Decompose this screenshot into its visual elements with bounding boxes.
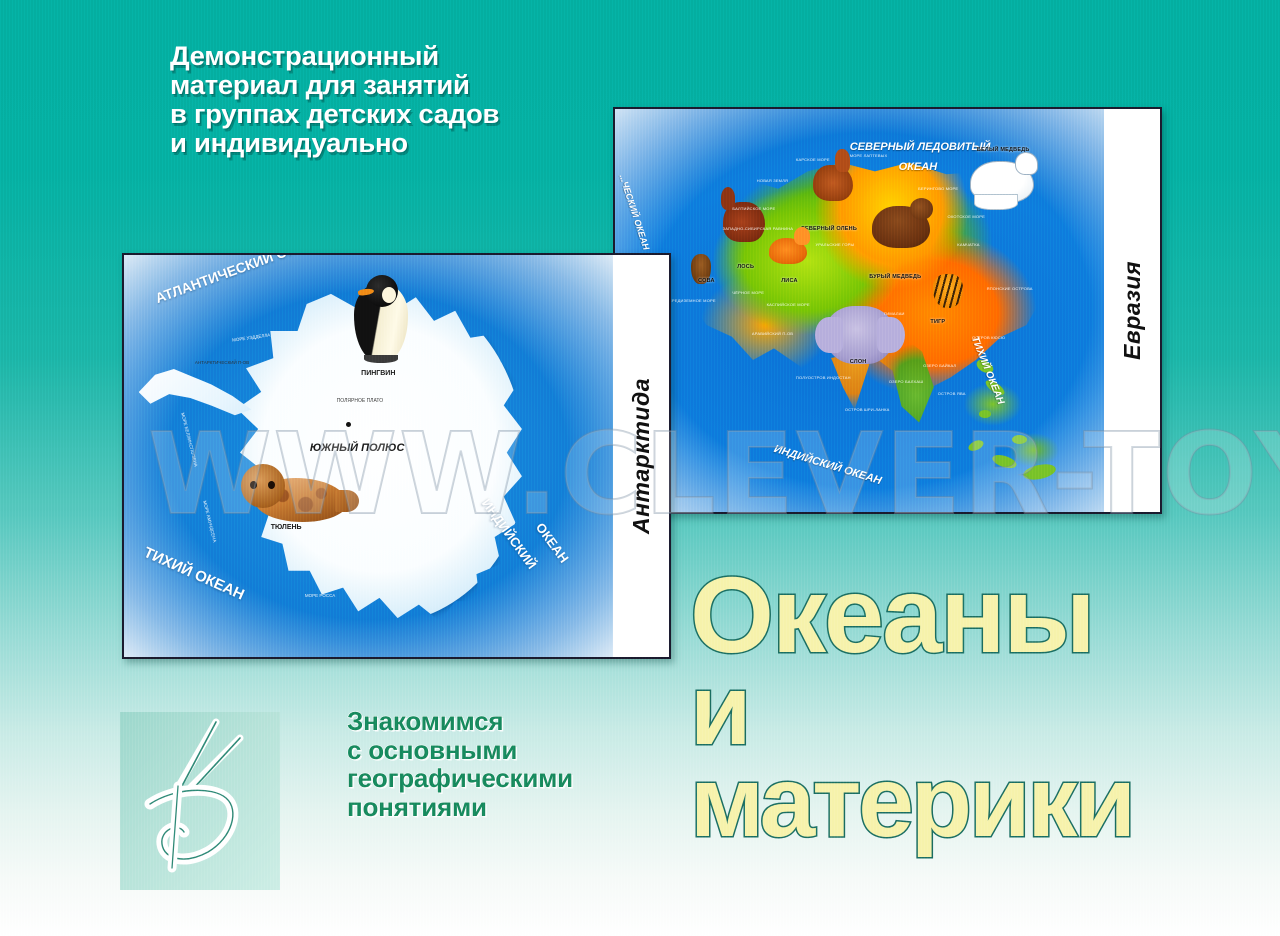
island-shape bbox=[967, 438, 986, 453]
island-shape bbox=[1012, 435, 1027, 444]
map-feature-label: ОЗЕРО БАЙКАЛ bbox=[923, 363, 956, 368]
card-eurasia-title: Евразия bbox=[1119, 261, 1146, 360]
animal-label-seal: ТЮЛЕНЬ bbox=[271, 524, 302, 531]
antarctica-map: АТЛАНТИЧЕСКИЙ ОКЕАН ТИХИЙ ОКЕАН ИНДИЙСКИ… bbox=[124, 255, 613, 657]
publisher-logo bbox=[120, 712, 280, 890]
seal-tail bbox=[335, 490, 359, 512]
header-line-4: и индивидуально bbox=[170, 129, 598, 158]
animal-tiger bbox=[933, 274, 963, 308]
card-antarctica-title: Антарктида bbox=[628, 378, 655, 534]
seal-eye-right bbox=[268, 481, 275, 489]
card-antarctica-side-tab: Антарктида bbox=[613, 255, 669, 657]
logo-glyph-b-icon bbox=[120, 712, 280, 890]
map-feature-label: ЗАПАДНО-СИБИРСКАЯ РАВНИНА bbox=[723, 226, 794, 231]
card-eurasia[interactable]: СЕВЕРНЫЙ ЛЕДОВИТЫЙ ОКЕАН ...ЧЕСКИЙ ОКЕАН… bbox=[613, 107, 1162, 514]
header-line-2: материал для занятий bbox=[170, 71, 598, 100]
map-label-polar-plateau: ПОЛЯРНОЕ ПЛАТО bbox=[337, 398, 383, 404]
map-feature-label: КАМЧАТКА bbox=[957, 242, 979, 247]
map-feature-label: ОЗЕРО БАЛХАШ bbox=[889, 379, 923, 384]
animal-label-moose: ЛОСЬ bbox=[737, 264, 754, 270]
animal-label-reindeer: СЕВЕРНЫЙ ОЛЕНЬ bbox=[801, 226, 857, 232]
island-shape bbox=[991, 453, 1018, 471]
animal-polar-bear bbox=[970, 161, 1034, 203]
penguin-cheek bbox=[382, 287, 396, 303]
map-feature-label: ОХОТСКОЕ МОРЕ bbox=[948, 214, 985, 219]
header-line-3: в группах детских садов bbox=[170, 100, 598, 129]
animal-label-polar-bear: БЕЛЫЙ МЕДВЕДЬ bbox=[977, 147, 1030, 153]
subtitle-line-3: географическими bbox=[347, 764, 647, 793]
animal-label-fox: ЛИСА bbox=[781, 278, 797, 284]
animal-label-elephant: СЛОН bbox=[850, 359, 867, 365]
map-feature-label: МОРЕ ЛАПТЕВЫХ bbox=[850, 153, 888, 158]
map-feature-label: ПОЛУОСТРОВ ИНДОСТАН bbox=[796, 375, 851, 380]
map-feature-label: КАСПИЙСКОЕ МОРЕ bbox=[767, 302, 810, 307]
animal-label-penguin: ПИНГВИН bbox=[361, 370, 395, 377]
map-feature-label: СРЕДИЗЕМНОЕ МОРЕ bbox=[669, 298, 716, 303]
penguin-feet bbox=[364, 355, 398, 363]
card-eurasia-side-tab: Евразия bbox=[1104, 109, 1160, 512]
map-label-south-pole: ЮЖНЫЙ ПОЛЮС bbox=[310, 442, 405, 454]
header-text: Демонстрационный материал для занятий в … bbox=[170, 42, 598, 158]
main-title-line-2: и материки bbox=[690, 664, 1210, 848]
map-feature-label: АРАВИЙСКИЙ П-ОВ bbox=[752, 331, 793, 336]
header-line-1: Демонстрационный bbox=[170, 42, 598, 71]
island-shape bbox=[1022, 462, 1057, 482]
ocean-label-arctic-line1: СЕВЕРНЫЙ ЛЕДОВИТЫЙ bbox=[850, 141, 991, 153]
animal-label-owl: СОВА bbox=[698, 278, 715, 284]
map-feature-label: НОВАЯ ЗЕМЛЯ bbox=[757, 178, 788, 183]
subtitle-line-4: понятиями bbox=[347, 793, 647, 822]
eurasia-map: СЕВЕРНЫЙ ЛЕДОВИТЫЙ ОКЕАН ...ЧЕСКИЙ ОКЕАН… bbox=[615, 109, 1104, 512]
animal-label-brown-bear: БУРЫЙ МЕДВЕДЬ bbox=[869, 274, 921, 280]
animal-fox bbox=[769, 238, 807, 264]
card-antarctica-inner: АТЛАНТИЧЕСКИЙ ОКЕАН ТИХИЙ ОКЕАН ИНДИЙСКИ… bbox=[124, 255, 669, 657]
eurasia-island-arc bbox=[938, 343, 1075, 496]
map-feature-label: ОСТРОВ ЯВА bbox=[938, 391, 966, 396]
map-feature-label: ГИМАЛАИ bbox=[884, 311, 905, 316]
animal-brown-bear bbox=[872, 206, 930, 248]
map-feature-label: БЕРИНГОВО МОРЕ bbox=[918, 186, 958, 191]
card-eurasia-inner: СЕВЕРНЫЙ ЛЕДОВИТЫЙ ОКЕАН ...ЧЕСКИЙ ОКЕАН… bbox=[615, 109, 1160, 512]
south-pole-marker bbox=[346, 422, 351, 427]
poster-canvas: Демонстрационный материал для занятий в … bbox=[0, 0, 1280, 936]
animal-seal bbox=[241, 464, 357, 526]
map-feature-label: УРАЛЬСКИЕ ГОРЫ bbox=[815, 242, 854, 247]
map-feature-label: ОСТРОВ КЮСЮ bbox=[972, 335, 1005, 340]
map-label-antarctic-peninsula: АНТАРКТИЧЕСКИЙ П-ОВ bbox=[195, 360, 249, 365]
main-title: Океаны и материки bbox=[690, 565, 1210, 848]
card-antarctica[interactable]: АТЛАНТИЧЕСКИЙ ОКЕАН ТИХИЙ ОКЕАН ИНДИЙСКИ… bbox=[122, 253, 671, 659]
subtitle-line-1: Знакомимся bbox=[347, 707, 647, 736]
subtitle-text: Знакомимся с основными географическими п… bbox=[347, 707, 647, 821]
map-feature-label: ОСТРОВ ШРИ-ЛАНКА bbox=[845, 407, 890, 412]
map-feature-label: БАЛТИЙСКОЕ МОРЕ bbox=[732, 206, 775, 211]
ocean-label-arctic-line2: ОКЕАН bbox=[899, 161, 938, 173]
map-label-ross-sea: МОРЕ РОССА bbox=[305, 593, 335, 598]
animal-penguin bbox=[354, 275, 408, 361]
subtitle-line-2: с основными bbox=[347, 736, 647, 765]
map-feature-label: ЧЁРНОЕ МОРЕ bbox=[732, 290, 764, 295]
map-feature-label: КАРСКОЕ МОРЕ bbox=[796, 157, 830, 162]
animal-reindeer bbox=[813, 165, 853, 201]
animal-label-tiger: ТИГР bbox=[930, 319, 945, 325]
main-title-line-1: Океаны bbox=[690, 565, 1210, 664]
seal-eye-left bbox=[250, 481, 257, 489]
map-feature-label: ЯПОНСКИЕ ОСТРОВА bbox=[987, 286, 1033, 291]
island-shape bbox=[979, 410, 991, 418]
